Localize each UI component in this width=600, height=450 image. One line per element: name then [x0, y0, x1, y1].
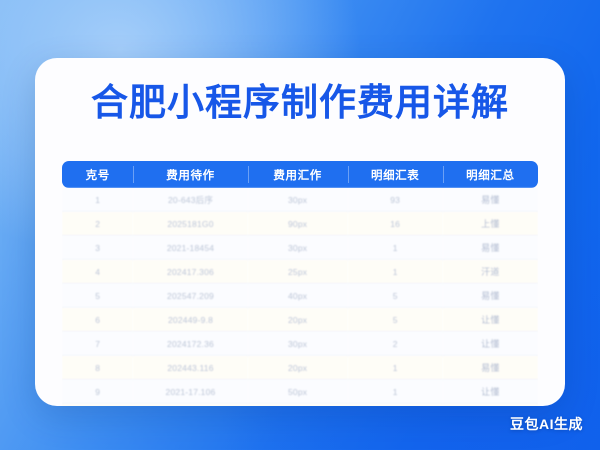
column-header-3: 明细汇表	[348, 161, 443, 188]
table-cell: 50px	[248, 380, 348, 404]
table-cell: 让懂	[443, 380, 538, 404]
table-cell: 易懂	[443, 284, 538, 308]
table-cell: 2	[62, 212, 133, 236]
table-cell: 5	[348, 308, 443, 332]
table-cell: 易懂	[443, 356, 538, 380]
table-cell: 1	[348, 260, 443, 284]
table-cell: 90px	[248, 212, 348, 236]
table-cell: 40px	[248, 284, 348, 308]
data-table-container: 克号 费用待作 费用汇作 明细汇表 明细汇总 120-643后序30px93易懂…	[62, 161, 538, 406]
column-header-0: 克号	[62, 161, 133, 188]
table-cell: 上懂	[443, 212, 538, 236]
table-cell: 30px	[248, 188, 348, 212]
table-cell: 2010-9-16	[133, 404, 247, 406]
table-cell: 1	[62, 188, 133, 212]
table-cell: 2	[348, 332, 443, 356]
table-cell: 汗道	[443, 260, 538, 284]
table-cell: 2025181G0	[133, 212, 247, 236]
table-cell: 2021-17.106	[133, 380, 247, 404]
table-cell: 5	[62, 284, 133, 308]
table-cell: 1	[348, 356, 443, 380]
table-cell: 30px	[248, 236, 348, 260]
table-row: 4202417.30625px1汗道	[62, 260, 538, 284]
table-cell: 易懂	[443, 236, 538, 260]
table-row: 32021-1845430px1易懂	[62, 236, 538, 260]
column-header-2: 费用汇作	[248, 161, 348, 188]
content-card: 合肥小程序制作费用详解 克号 费用待作 费用汇作 明细汇表 明细汇总 120-6…	[35, 58, 565, 406]
table-cell: 10	[62, 404, 133, 406]
table-cell: 20-643后序	[133, 188, 247, 212]
table-body: 120-643后序30px93易懂22025181G090px16上懂32021…	[62, 188, 538, 406]
data-table: 克号 费用待作 费用汇作 明细汇表 明细汇总 120-643后序30px93易懂…	[62, 161, 538, 406]
table-cell: 93	[348, 188, 443, 212]
table-cell: 202449-9.8	[133, 308, 247, 332]
table-cell: 20px	[248, 356, 348, 380]
column-header-4: 明细汇总	[443, 161, 538, 188]
table-cell: 202443.116	[133, 356, 247, 380]
table-cell: 1	[348, 404, 443, 406]
table-cell: 1	[348, 236, 443, 260]
table-cell: 16	[348, 212, 443, 236]
table-cell: 8	[62, 356, 133, 380]
table-cell: 2024172.36	[133, 332, 247, 356]
column-header-1: 费用待作	[133, 161, 247, 188]
table-row: 8202443.11620px1易懂	[62, 356, 538, 380]
table-cell: 3	[62, 236, 133, 260]
table-cell: 20px	[248, 308, 348, 332]
table-cell: 202417.306	[133, 260, 247, 284]
table-cell: 1	[348, 380, 443, 404]
table-row: 22025181G090px16上懂	[62, 212, 538, 236]
table-cell: 2021-18454	[133, 236, 247, 260]
table-row: 6202449-9.820px5让懂	[62, 308, 538, 332]
table-cell: 让懂	[443, 308, 538, 332]
table-cell: 202547.209	[133, 284, 247, 308]
page-title: 合肥小程序制作费用详解	[35, 84, 565, 121]
table-cell: 10px	[248, 404, 348, 406]
ai-watermark: 豆包AI生成	[510, 414, 583, 434]
table-cell: 5	[348, 284, 443, 308]
table-cell: 让懂	[443, 332, 538, 356]
table-cell: 易懂	[443, 188, 538, 212]
table-cell: 9	[62, 380, 133, 404]
table-cell: 30px	[248, 332, 348, 356]
table-row: 72024172.3630px2让懂	[62, 332, 538, 356]
table-cell: 6	[62, 308, 133, 332]
table-row: 120-643后序30px93易懂	[62, 188, 538, 212]
table-cell: 7	[62, 332, 133, 356]
table-row: 92021-17.10650px1让懂	[62, 380, 538, 404]
slide-canvas: 合肥小程序制作费用详解 克号 费用待作 费用汇作 明细汇表 明细汇总 120-6…	[0, 0, 600, 450]
table-cell: 4	[62, 260, 133, 284]
table-row: 5202547.20940px5易懂	[62, 284, 538, 308]
table-cell: 25px	[248, 260, 348, 284]
table-cell: 易懂	[443, 404, 538, 406]
table-row: 102010-9-1610px1易懂	[62, 404, 538, 406]
table-header-row: 克号 费用待作 费用汇作 明细汇表 明细汇总	[62, 161, 538, 188]
